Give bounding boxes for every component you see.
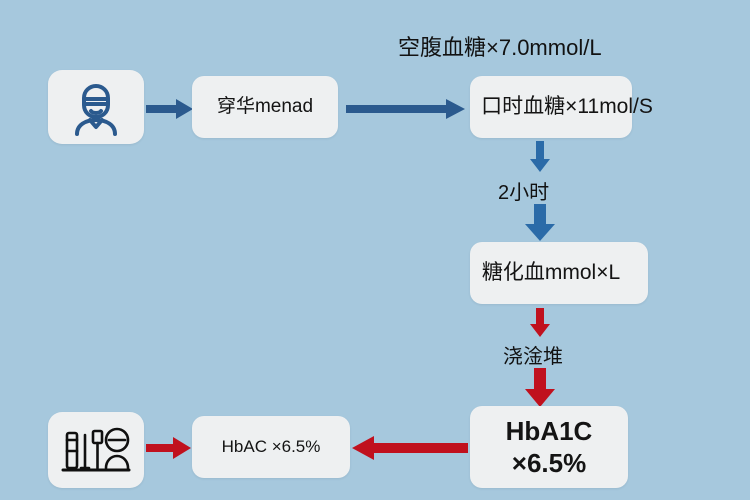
- node-hba1c-value[interactable]: HbA1C ×6.5%: [470, 406, 628, 488]
- patient-avatar-icon: [66, 78, 126, 136]
- node-hba1c-label-line1: HbA1C: [506, 415, 593, 448]
- node-contrast-agent-label: 穿华menad: [217, 95, 313, 119]
- blue-right-arrow-contrast-to-ogtt: [346, 98, 466, 120]
- red-right-arrow-lab-to-result: [146, 436, 192, 460]
- blue-down-arrow-to-hba: [524, 204, 556, 242]
- node-result-hbac-label: HbAC ×6.5%: [222, 436, 321, 457]
- node-oral-glucose-label: 口时血糖×11mol/S: [481, 94, 653, 120]
- patient-avatar-tile: [48, 70, 144, 144]
- node-hba1c-text-block: HbA1C ×6.5%: [506, 415, 593, 480]
- fasting-glucose-label: 空腹血糖×7.0mmol/L: [398, 30, 602, 62]
- flowchart-canvas: 空腹血糖×7.0mmol/L 穿华menad 口时血糖×11mol: [0, 0, 750, 500]
- node-oral-glucose[interactable]: 口时血糖×11mol/S: [470, 76, 632, 138]
- node-glycated-hemoglobin[interactable]: 糖化血mmol×L: [470, 242, 648, 304]
- node-hba1c-label-line2: ×6.5%: [506, 447, 593, 480]
- red-left-arrow-hba1c-to-result: [352, 434, 468, 462]
- blue-right-arrow-avatar-to-contrast: [146, 98, 194, 120]
- node-glycated-hemoglobin-label: 糖化血mmol×L: [482, 260, 620, 286]
- sugar-step-label: 浇淦堆: [503, 340, 563, 369]
- red-down-arrow-to-sugar-step: [529, 308, 551, 338]
- node-result-hbac[interactable]: HbAC ×6.5%: [192, 416, 350, 478]
- node-contrast-agent[interactable]: 穿华menad: [192, 76, 338, 138]
- lab-test-tubes-icon: [60, 421, 132, 479]
- red-down-arrow-to-hba1c: [524, 368, 556, 408]
- lab-test-tile: [48, 412, 144, 488]
- blue-down-arrow-to-twohours: [529, 141, 551, 173]
- two-hours-label: 2小时: [498, 176, 549, 205]
